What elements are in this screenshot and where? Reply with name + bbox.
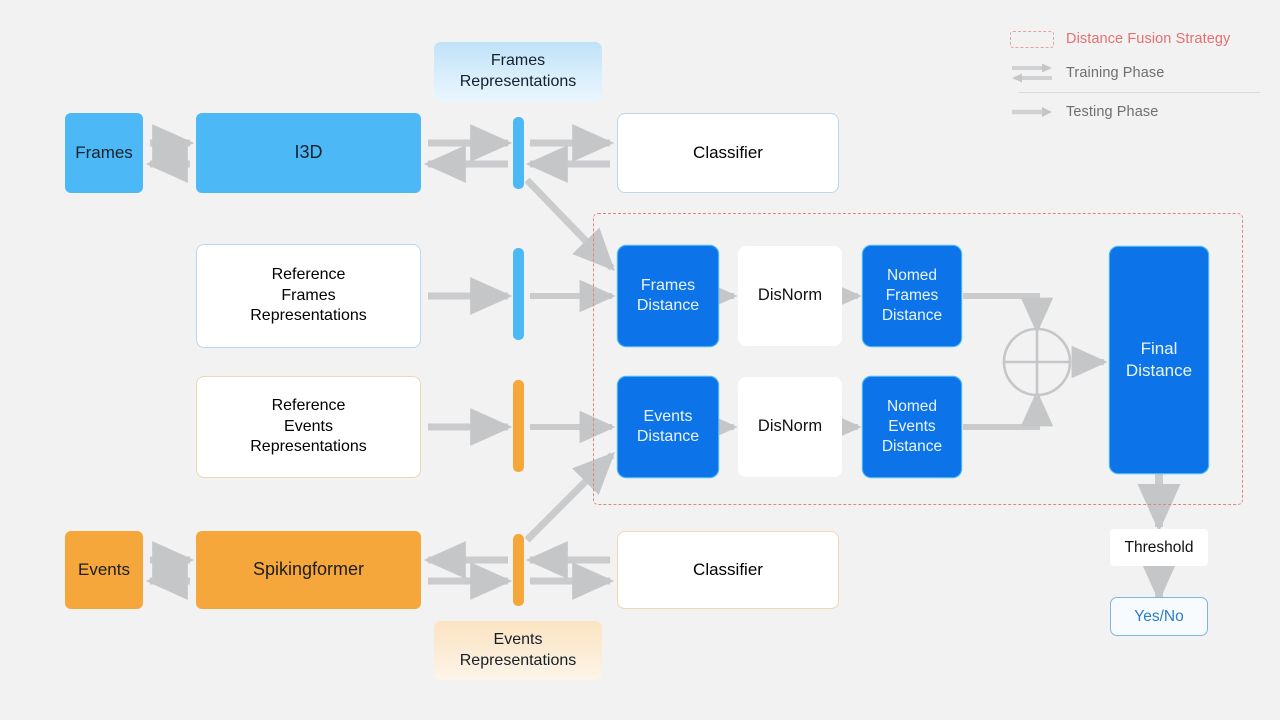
legend-item-training-phase: Training Phase xyxy=(1008,56,1260,90)
nomed-frames-distance-block[interactable]: Nomed Frames Distance xyxy=(863,246,961,346)
ref-frames-line-3: Representations xyxy=(250,306,367,326)
frames-distance-block[interactable]: Frames Distance xyxy=(618,246,718,346)
final-distance-line-2: Distance xyxy=(1126,360,1192,382)
events-representations-caption: Events Representations xyxy=(434,621,602,680)
single-arrow-icon xyxy=(1008,102,1056,122)
sum-operator-icon xyxy=(1001,326,1073,398)
legend-label-training-phase: Training Phase xyxy=(1056,65,1164,81)
frames-representations-caption: Frames Representations xyxy=(434,42,602,102)
legend-divider xyxy=(1018,92,1260,93)
nomed-events-line-1: Nomed xyxy=(887,397,937,417)
frames-input-block[interactable]: Frames xyxy=(65,113,143,193)
legend-label-testing-phase: Testing Phase xyxy=(1056,104,1158,120)
reference-events-representation-bar xyxy=(513,380,524,472)
spikingformer-encoder-block[interactable]: Spikingformer xyxy=(196,531,421,609)
reference-frames-representation-bar xyxy=(513,248,524,340)
frames-classifier-block[interactable]: Classifier xyxy=(617,113,839,193)
frames-distance-line-1: Frames xyxy=(641,276,695,296)
events-distance-block[interactable]: Events Distance xyxy=(618,377,718,477)
events-classifier-block[interactable]: Classifier xyxy=(617,531,839,609)
dashed-box-icon xyxy=(1008,31,1056,48)
frames-representation-bar xyxy=(513,117,524,189)
legend-item-distance-fusion-strategy: Distance Fusion Strategy xyxy=(1008,22,1260,56)
frames-representations-line-1: Frames xyxy=(491,51,545,72)
yes-no-block[interactable]: Yes/No xyxy=(1110,597,1208,636)
events-disnorm-block[interactable]: DisNorm xyxy=(738,377,842,477)
nomed-frames-line-3: Distance xyxy=(882,306,942,326)
legend-label-distance-fusion-strategy: Distance Fusion Strategy xyxy=(1056,31,1230,47)
events-input-block[interactable]: Events xyxy=(65,531,143,609)
ref-events-line-2: Events xyxy=(284,417,333,437)
reference-frames-representations-block[interactable]: Reference Frames Representations xyxy=(196,244,421,348)
frames-representations-line-2: Representations xyxy=(460,72,577,93)
events-representation-bar xyxy=(513,534,524,606)
final-distance-line-1: Final xyxy=(1141,338,1178,360)
nomed-events-distance-block[interactable]: Nomed Events Distance xyxy=(863,377,961,477)
threshold-block[interactable]: Threshold xyxy=(1110,529,1208,566)
nomed-frames-line-1: Nomed xyxy=(887,266,937,286)
legend-item-testing-phase: Testing Phase xyxy=(1008,95,1260,129)
frames-disnorm-block[interactable]: DisNorm xyxy=(738,246,842,346)
ref-events-line-1: Reference xyxy=(272,396,346,416)
events-representations-line-2: Representations xyxy=(460,651,577,672)
events-distance-line-1: Events xyxy=(644,407,693,427)
ref-events-line-3: Representations xyxy=(250,437,367,457)
i3d-encoder-block[interactable]: I3D xyxy=(196,113,421,193)
events-representations-line-1: Events xyxy=(494,630,543,651)
nomed-events-line-3: Distance xyxy=(882,437,942,457)
ref-frames-line-2: Frames xyxy=(281,286,335,306)
frames-distance-line-2: Distance xyxy=(637,296,699,316)
reference-events-representations-block[interactable]: Reference Events Representations xyxy=(196,376,421,478)
events-distance-line-2: Distance xyxy=(637,427,699,447)
nomed-events-line-2: Events xyxy=(888,417,935,437)
nomed-frames-line-2: Frames xyxy=(886,286,939,306)
double-arrow-icon xyxy=(1008,60,1056,86)
final-distance-block[interactable]: Final Distance xyxy=(1110,247,1208,473)
legend: Distance Fusion Strategy Training Phase xyxy=(1008,22,1260,129)
ref-frames-line-1: Reference xyxy=(272,265,346,285)
diagram-canvas: Frames I3D Frames Representations Classi… xyxy=(0,0,1280,720)
